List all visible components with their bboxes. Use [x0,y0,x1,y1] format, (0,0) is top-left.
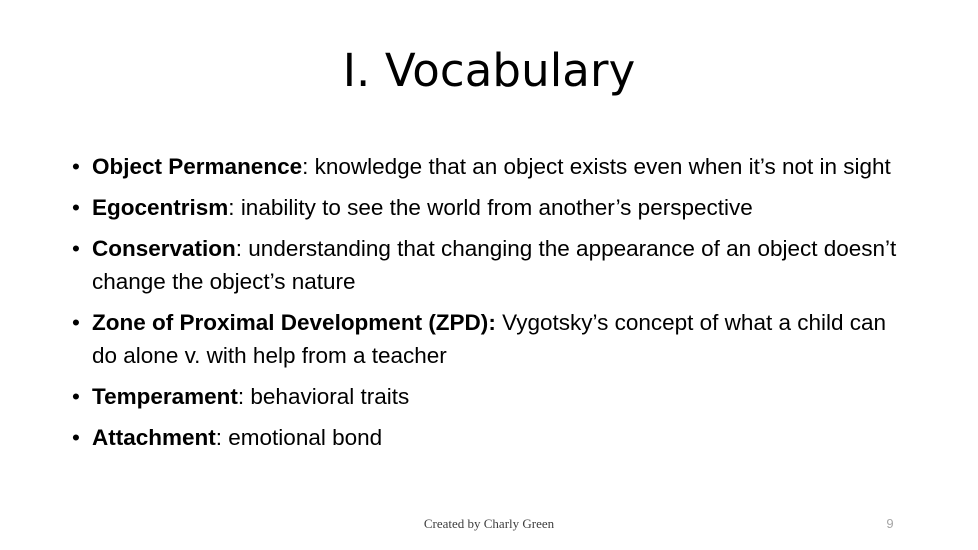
vocabulary-bullet-list: • Object Permanence: knowledge that an o… [68,150,913,454]
list-item: • Conservation: understanding that chang… [68,232,913,298]
bullet-dot-icon: • [72,306,86,339]
vocabulary-term: Egocentrism [92,195,228,220]
term-separator: : [488,310,502,335]
term-separator: : [228,195,241,220]
bullet-dot-icon: • [72,421,86,454]
page-number: 9 [870,515,910,533]
term-separator: : [216,425,229,450]
vocabulary-definition: emotional bond [228,425,382,450]
list-item: • Temperament: behavioral traits [68,380,913,413]
vocabulary-definition: behavioral traits [250,384,409,409]
vocabulary-term: Zone of Proximal Development (ZPD) [92,310,488,335]
term-separator: : [236,236,249,261]
term-separator: : [238,384,251,409]
bullet-dot-icon: • [72,150,86,183]
slide-canvas: I. Vocabulary • Object Permanence: knowl… [0,0,978,550]
page-title: I. Vocabulary [0,44,978,98]
vocabulary-term: Temperament [92,384,238,409]
list-item: • Egocentrism: inability to see the worl… [68,191,913,224]
list-item: • Attachment: emotional bond [68,421,913,454]
list-item: • Object Permanence: knowledge that an o… [68,150,913,183]
bullet-dot-icon: • [72,191,86,224]
vocabulary-term: Attachment [92,425,216,450]
list-item: • Zone of Proximal Development (ZPD): Vy… [68,306,913,372]
bullet-dot-icon: • [72,232,86,265]
vocabulary-definition: knowledge that an object exists even whe… [315,154,891,179]
term-separator: : [302,154,315,179]
vocabulary-term: Conservation [92,236,236,261]
footer-credit: Created by Charly Green [0,515,978,533]
bullet-dot-icon: • [72,380,86,413]
vocabulary-definition: inability to see the world from another’… [241,195,753,220]
vocabulary-term: Object Permanence [92,154,302,179]
